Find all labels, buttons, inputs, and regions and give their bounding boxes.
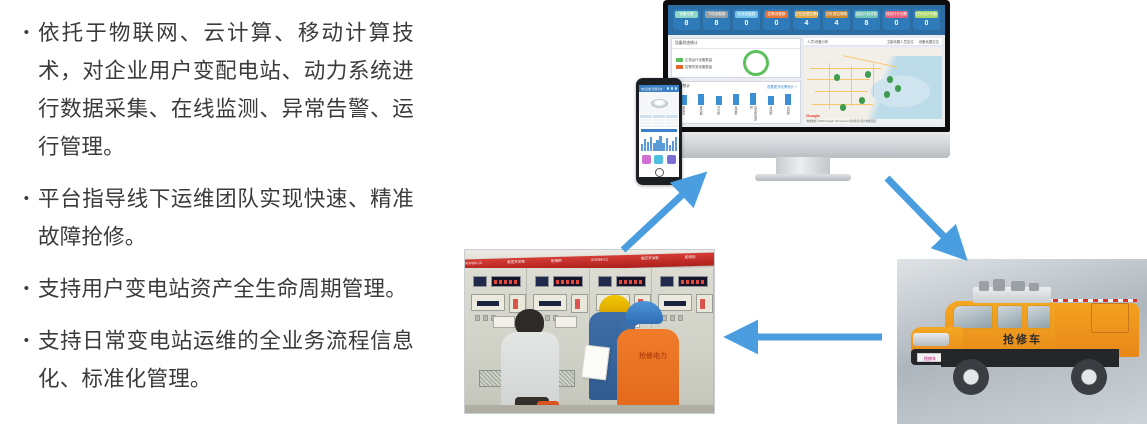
kpi-value: 8 (715, 18, 719, 29)
dashboard-right-column: 人员/设备分布 卫星地图人员定位 设备地图定位 (804, 38, 942, 124)
kpi-value: 0 (925, 18, 929, 29)
bar-column: 电容柜 (732, 94, 741, 122)
legend-label: 告警异常设备数量 (685, 64, 712, 69)
truck-wheel-front (953, 359, 989, 395)
band-label: 高压开关柜 (641, 256, 659, 261)
map-marker[interactable] (884, 91, 890, 98)
bar-column: 进线柜 (766, 96, 775, 122)
kpi-label: 下线设备数 (705, 11, 728, 18)
legend-swatch-normal (676, 58, 683, 62)
kpi-label: 巡检计划总数 (855, 11, 878, 18)
band-label: 配电柜 (551, 258, 562, 263)
kpi-label: 待执行计划数 (885, 11, 908, 18)
phone-title: 电力运维 管理平台 (641, 87, 662, 91)
bullet-marker: • (0, 14, 38, 52)
truck-window-front (997, 305, 1023, 329)
kpi-card[interactable]: 已完成计划数 0 (913, 9, 940, 30)
alarm-stats-panel: 告警统计 查看更多告警统计 > 配电房 (671, 81, 801, 124)
dashboard-body: 设备状态统计 正常运行设备数量 (668, 35, 945, 127)
kpi-label: 告警设备数 (765, 11, 788, 18)
bullet-marker: • (0, 322, 38, 360)
photo-maintenance-truck: 抢修车 抢修车 (897, 259, 1147, 424)
bullet-text: 平台指导线下运维团队实现快速、精准故障抢修。 (38, 180, 448, 256)
map-marker[interactable] (840, 104, 846, 111)
bar-label: 进线柜 (769, 106, 773, 122)
monitor-bezel: 设备总数 8 下线设备数 8 在线设备数 0 告警设备数 (663, 0, 950, 132)
kpi-value: 0 (745, 18, 749, 29)
phone-data-table (639, 114, 679, 128)
legend: 正常运行设备数量 告警异常设备数量 (672, 57, 712, 69)
truck-body-text: 抢修车 (1003, 331, 1042, 347)
kpi-value: 4 (835, 18, 839, 29)
kpi-card[interactable]: 下线设备数 8 (703, 9, 730, 30)
kpi-card[interactable]: 告警设备数 0 (763, 9, 790, 30)
map-panel[interactable]: Google 地图数据 ©2018 Google, SK telecom 使用条… (804, 48, 942, 124)
band-label: XGN66-12 (465, 261, 482, 265)
bar-label: 变压器 (699, 106, 703, 122)
bar-label: 开关柜 (717, 106, 721, 122)
kpi-label: 正在处理告警数 (795, 11, 818, 18)
band-label: XGN66-12 (591, 257, 608, 261)
map-marker[interactable] (859, 97, 865, 104)
panel-title: 人员/设备分布 (807, 39, 828, 44)
list-item: • 依托于物联网、云计算、移动计算技术，对企业用户变配电站、动力系统进行数据采集… (0, 14, 448, 166)
kpi-label: 在线设备数 (735, 11, 758, 18)
phone-gauge-chart (639, 92, 679, 114)
band-label: 配电柜 (685, 255, 696, 260)
truck-grille (913, 333, 949, 346)
phone-app-icons (639, 153, 679, 167)
kpi-value: 8 (685, 18, 689, 29)
map-control-device[interactable]: 设备地图定位 (919, 40, 939, 44)
bar (716, 96, 722, 105)
bar (733, 94, 739, 105)
map-marker[interactable] (895, 85, 901, 92)
truck-windshield (953, 305, 993, 329)
grid-app-icon[interactable] (642, 155, 651, 164)
apple-logo-icon (798, 140, 808, 152)
blue-helmet-icon (625, 301, 663, 324)
bar-column: 直流屏电源柜 (749, 93, 758, 122)
truck-license-plate: 抢修车 (917, 353, 943, 362)
legend-swatch-alarm (676, 65, 683, 69)
list-item: • 支持用户变电站资产全生命周期管理。 (0, 270, 448, 308)
chart-app-icon[interactable] (654, 155, 663, 164)
kpi-label: 已完成计划数 (915, 11, 938, 18)
bar-label: 出线柜 (786, 106, 790, 122)
truck-window-rear (1027, 305, 1051, 329)
kpi-value: 4 (805, 18, 809, 29)
bar-chart: 配电房 变压器 开关柜 (672, 91, 800, 123)
bullet-text: 支持日常变电站运维的全业务流程信息化、标准化管理。 (38, 322, 448, 398)
phone-indicator-dots (667, 87, 678, 90)
list-app-icon[interactable] (667, 155, 676, 164)
legend-item: 告警异常设备数量 (676, 64, 712, 69)
kpi-card[interactable]: 已处理告警数 4 (823, 9, 850, 30)
kpi-value: 0 (895, 18, 899, 29)
phone-section-divider (641, 129, 677, 132)
bullet-text: 依托于物联网、云计算、移动计算技术，对企业用户变配电站、动力系统进行数据采集、在… (38, 14, 448, 166)
imac-monitor: 设备总数 8 下线设备数 8 在线设备数 0 告警设备数 (655, 0, 950, 182)
phone-bar-chart (639, 133, 679, 153)
truck-body: 抢修车 抢修车 (911, 287, 1139, 397)
suit-text: 抢修电力 (639, 351, 667, 361)
bar-column: 开关柜 (714, 96, 723, 122)
map-panel-header: 人员/设备分布 卫星地图人员定位 设备地图定位 (804, 38, 942, 46)
phone-status-bar: 电力运维 管理平台 (639, 85, 679, 92)
photo-substation: XGN66-12 高压开关柜 配电柜 XGN66-12 高压开关柜 配电柜 (464, 249, 715, 414)
panel-header: 告警统计 查看更多告警统计 > (672, 82, 800, 91)
legend-label: 正常运行设备数量 (685, 57, 712, 62)
monitor-stand-foot (755, 174, 851, 181)
map-marker[interactable] (865, 71, 871, 78)
view-more-link[interactable]: 查看更多告警统计 > (767, 84, 797, 89)
map-canvas[interactable]: Google 地图数据 ©2018 Google, SK telecom 使用条… (804, 56, 942, 124)
bar (750, 93, 756, 105)
map-logo: Google (806, 113, 820, 118)
map-attribution: 地图数据 ©2018 Google, SK telecom 使用条款 报告地图错… (804, 119, 942, 124)
slide-root: • 依托于物联网、云计算、移动计算技术，对企业用户变配电站、动力系统进行数据采集… (0, 0, 1147, 437)
kpi-value: 0 (775, 18, 779, 29)
bar (698, 94, 704, 105)
map-marker[interactable] (887, 76, 893, 83)
bullet-list: • 依托于物联网、云计算、移动计算技术，对企业用户变配电站、动力系统进行数据采集… (0, 14, 448, 412)
list-item: • 支持日常变电站运维的全业务流程信息化、标准化管理。 (0, 322, 448, 398)
kpi-card[interactable]: 巡检计划总数 8 (853, 9, 880, 30)
kpi-card[interactable]: 设备总数 8 (673, 9, 700, 30)
diagram-area: 设备总数 8 下线设备数 8 在线设备数 0 告警设备数 (450, 0, 1147, 437)
kpi-card[interactable]: 在线设备数 0 (733, 9, 760, 30)
phone-home-button[interactable] (655, 168, 664, 177)
band-label: 高压开关柜 (507, 259, 525, 264)
phone-screen: 电力运维 管理平台 (639, 85, 679, 177)
smartphone: 电力运维 管理平台 (636, 78, 682, 185)
bullet-text: 支持用户变电站资产全生命周期管理。 (38, 270, 448, 308)
kpi-row: 设备总数 8 下线设备数 8 在线设备数 0 告警设备数 (668, 5, 945, 35)
kpi-card[interactable]: 正在处理告警数 4 (793, 9, 820, 30)
map-control-satellite[interactable]: 卫星地图人员定位 (887, 40, 914, 44)
map-marker[interactable] (834, 74, 840, 81)
inspection-document (581, 345, 610, 381)
kpi-label: 设备总数 (675, 11, 698, 18)
bar-column: 变压器 (697, 94, 706, 122)
dashboard-left-column: 设备状态统计 正常运行设备数量 (671, 38, 801, 124)
list-item: • 平台指导线下运维团队实现快速、精准故障抢修。 (0, 180, 448, 256)
panel-title: 设备状态统计 (672, 39, 800, 49)
truck-roof-rack (973, 287, 1051, 303)
truck-wheel-rear (1071, 359, 1107, 395)
bar-column: 出线柜 (784, 94, 793, 122)
donut-chart (743, 50, 769, 76)
bar (768, 96, 774, 105)
kpi-label: 已处理告警数 (825, 11, 848, 18)
arrow-monitor-to-truck (887, 178, 956, 249)
bar-label: 电容柜 (734, 106, 738, 122)
bullet-marker: • (0, 180, 38, 218)
device-status-panel: 设备状态统计 正常运行设备数量 (671, 38, 801, 78)
dashboard-screen: 设备总数 8 下线设备数 8 在线设备数 0 告警设备数 (668, 5, 945, 127)
bar-label: 直流屏电源柜 (749, 106, 757, 122)
worker-orange-suit: 抢修电力 (617, 301, 683, 413)
arrow-substation-to-monitor (623, 183, 695, 250)
bar-label: 配电房 (682, 106, 686, 122)
kpi-card[interactable]: 待执行计划数 0 (883, 9, 910, 30)
kpi-value: 8 (865, 18, 869, 29)
bar (785, 94, 791, 105)
legend-item: 正常运行设备数量 (676, 57, 712, 62)
bullet-marker: • (0, 270, 38, 308)
